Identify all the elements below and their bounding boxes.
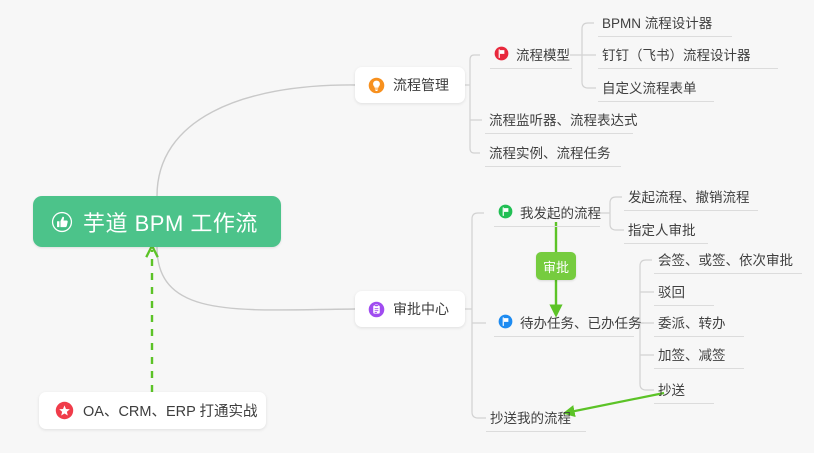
star-icon [55, 401, 74, 420]
clipboard-icon [368, 301, 385, 318]
edge-root-to-process-management [157, 85, 355, 196]
topic-dingtalk-feishu-designer-label: 钉钉（飞书）流程设计器 [602, 44, 751, 64]
tag-approve[interactable]: 审批 [536, 252, 576, 280]
root-node[interactable]: 芋道 BPM 工作流 [33, 196, 281, 247]
topic-todo-done-tasks-label: 待办任务、已办任务 [520, 312, 642, 332]
topic-cc-to-me[interactable]: 抄送我的流程 [486, 405, 586, 432]
topic-process-listener-expression[interactable]: 流程监听器、流程表达式 [485, 107, 633, 134]
tag-approve-label: 审批 [543, 257, 569, 276]
topic-process-model-label: 流程模型 [516, 44, 570, 64]
topic-process-model[interactable]: 流程模型 [490, 42, 572, 69]
branch-process-management[interactable]: 流程管理 [355, 67, 465, 103]
root-label: 芋道 BPM 工作流 [83, 206, 258, 238]
callout-integration-label: OA、CRM、ERP 打通实战 [83, 400, 258, 421]
branch-approval-center-label: 审批中心 [393, 299, 449, 319]
topic-delegate-transfer[interactable]: 委派、转办 [654, 310, 744, 337]
topic-countersign-modes-label: 会签、或签、依次审批 [658, 249, 793, 269]
edge-my-started-bracket [600, 197, 624, 230]
topic-bpmn-designer[interactable]: BPMN 流程设计器 [598, 10, 732, 37]
topic-custom-process-form-label: 自定义流程表单 [602, 77, 697, 97]
branch-process-management-label: 流程管理 [393, 75, 449, 95]
edge-root-to-approval-center [157, 247, 355, 310]
topic-todo-done-tasks[interactable]: 待办任务、已办任务 [494, 310, 634, 337]
topic-process-instance-task-label: 流程实例、流程任务 [489, 142, 611, 162]
topic-process-instance-task[interactable]: 流程实例、流程任务 [485, 140, 621, 167]
topic-reject-label: 驳回 [658, 281, 685, 301]
topic-bpmn-designer-label: BPMN 流程设计器 [602, 12, 712, 32]
thumbs-up-icon [51, 211, 73, 233]
topic-designated-approver[interactable]: 指定人审批 [624, 217, 708, 244]
topic-designated-approver-label: 指定人审批 [628, 219, 696, 239]
callout-integration[interactable]: OA、CRM、ERP 打通实战 [39, 392, 266, 429]
topic-carbon-copy-label: 抄送 [658, 379, 685, 399]
topic-carbon-copy[interactable]: 抄送 [654, 377, 714, 404]
topic-process-listener-expression-label: 流程监听器、流程表达式 [489, 109, 638, 129]
topic-add-remove-sign[interactable]: 加签、减签 [654, 342, 744, 369]
topic-my-started-process[interactable]: 我发起的流程 [494, 200, 600, 227]
mindmap-canvas: 芋道 BPM 工作流 流程管理 审批中心 流程模型 [0, 0, 814, 453]
topic-add-remove-sign-label: 加签、减签 [658, 344, 726, 364]
topic-start-cancel-process[interactable]: 发起流程、撤销流程 [624, 184, 758, 211]
flag-icon [498, 204, 513, 219]
flag-icon [494, 46, 509, 61]
flag-icon [498, 314, 513, 329]
topic-cc-to-me-label: 抄送我的流程 [490, 407, 571, 427]
edge-process-model-bracket [570, 23, 596, 88]
topic-reject[interactable]: 驳回 [654, 279, 714, 306]
topic-dingtalk-feishu-designer[interactable]: 钉钉（飞书）流程设计器 [598, 42, 778, 69]
branch-approval-center[interactable]: 审批中心 [355, 291, 465, 327]
topic-countersign-modes[interactable]: 会签、或签、依次审批 [654, 247, 802, 274]
topic-delegate-transfer-label: 委派、转办 [658, 312, 726, 332]
topic-my-started-process-label: 我发起的流程 [520, 202, 601, 222]
topic-custom-process-form[interactable]: 自定义流程表单 [598, 75, 714, 102]
topic-start-cancel-process-label: 发起流程、撤销流程 [628, 186, 750, 206]
lightbulb-icon [368, 77, 385, 94]
